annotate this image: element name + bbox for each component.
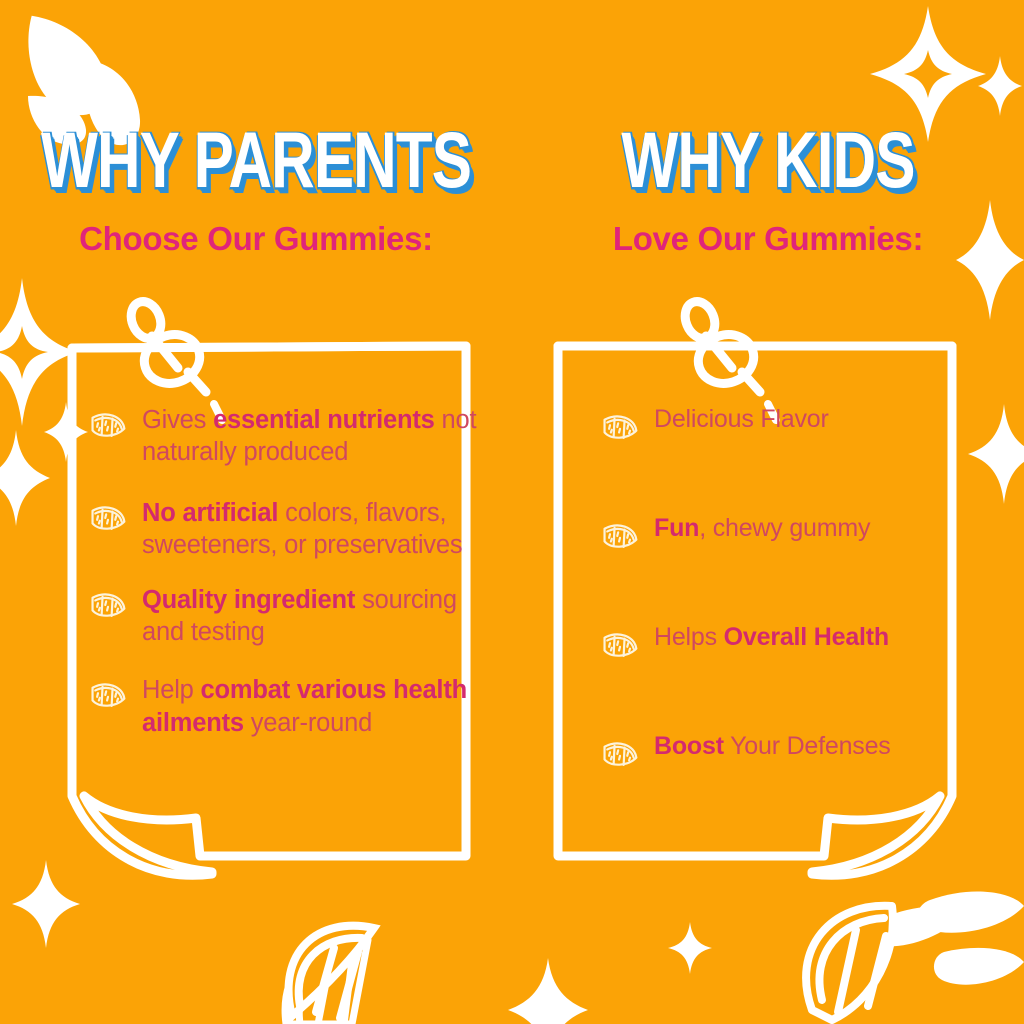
citrus-wedge-icon: [600, 734, 640, 774]
list-item-text: Help combat various health ailments year…: [142, 674, 492, 739]
list-item-text: Quality ingredient sourcing and testing: [142, 584, 492, 649]
list-item: Boost Your Defenses: [600, 731, 996, 774]
citrus-wedge-icon: [600, 516, 640, 556]
citrus-wedge-icon: [88, 675, 128, 715]
list-item: Quality ingredient sourcing and testing: [88, 584, 492, 649]
benefit-list-kids: Delicious Flavor: [600, 404, 996, 840]
page-subtitle-parents: Choose Our Gummies:: [14, 220, 498, 258]
list-item: Fun, chewy gummy: [600, 513, 996, 556]
list-item-text: Gives essential nutrients not naturally …: [142, 404, 492, 469]
citrus-wedge-icon: [88, 405, 128, 445]
citrus-wedge-icon: [600, 407, 640, 447]
page-title-kids: WHY KIDS: [550, 122, 986, 199]
benefit-list-parents: Gives essential nutrients not naturally …: [88, 404, 492, 765]
column-kids: WHY KIDS Love Our Gummies:: [512, 0, 1024, 1024]
column-parents: WHY PARENTS Choose Our Gummies:: [0, 0, 512, 1024]
citrus-wedge-icon: [88, 498, 128, 538]
heading-kids: WHY KIDS Love Our Gummies:: [512, 128, 1024, 258]
citrus-wedge-icon: [600, 625, 640, 665]
page-subtitle-kids: Love Our Gummies:: [526, 220, 1010, 258]
poster-canvas: WHY PARENTS Choose Our Gummies:: [0, 0, 1024, 1024]
list-item: Helps Overall Health: [600, 622, 996, 665]
list-item-text: Boost Your Defenses: [654, 731, 891, 763]
page-title-parents: WHY PARENTS: [38, 122, 474, 199]
list-item: Delicious Flavor: [600, 404, 996, 447]
list-item-text: Fun, chewy gummy: [654, 513, 870, 545]
two-column-layout: WHY PARENTS Choose Our Gummies:: [0, 0, 1024, 1024]
pushpin-icon: [680, 297, 776, 420]
list-item: Help combat various health ailments year…: [88, 674, 492, 739]
pushpin-icon: [126, 297, 222, 420]
list-item: Gives essential nutrients not naturally …: [88, 404, 492, 469]
heading-parents: WHY PARENTS Choose Our Gummies:: [0, 128, 512, 258]
list-item-text: Helps Overall Health: [654, 622, 889, 654]
citrus-wedge-icon: [88, 585, 128, 625]
list-item-text: Delicious Flavor: [654, 404, 829, 436]
list-item: No artificial colors, flavors, sweetener…: [88, 497, 492, 562]
list-item-text: No artificial colors, flavors, sweetener…: [142, 497, 492, 562]
